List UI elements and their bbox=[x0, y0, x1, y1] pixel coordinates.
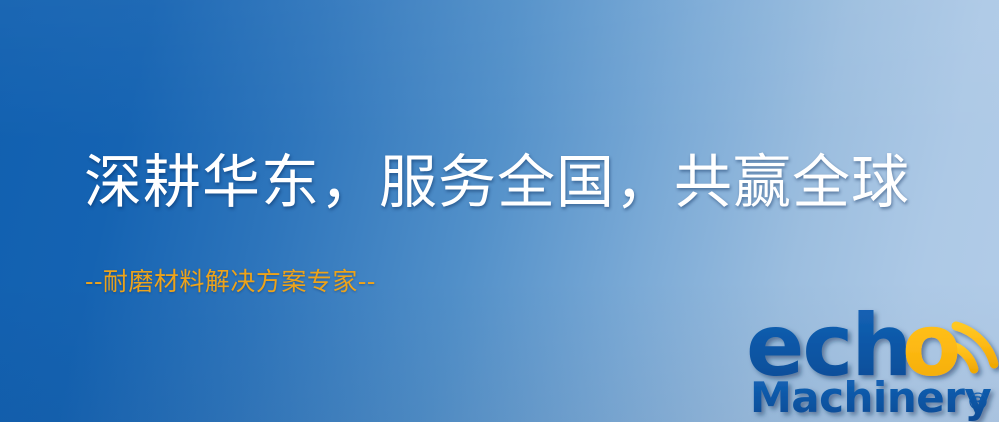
banner-subtitle: --耐磨材料解决方案专家-- bbox=[85, 267, 376, 297]
registered-trademark-icon: ® bbox=[966, 388, 990, 416]
company-logo: ech o Machinery ® bbox=[744, 296, 999, 422]
logo-tagline: Machinery bbox=[750, 373, 991, 422]
promo-banner: 深耕华东，服务全国，共赢全球 --耐磨材料解决方案专家-- bbox=[0, 0, 999, 422]
logo-svg: ech o Machinery ® bbox=[744, 296, 999, 422]
page-title: 深耕华东，服务全国，共赢全球 bbox=[84, 151, 910, 213]
